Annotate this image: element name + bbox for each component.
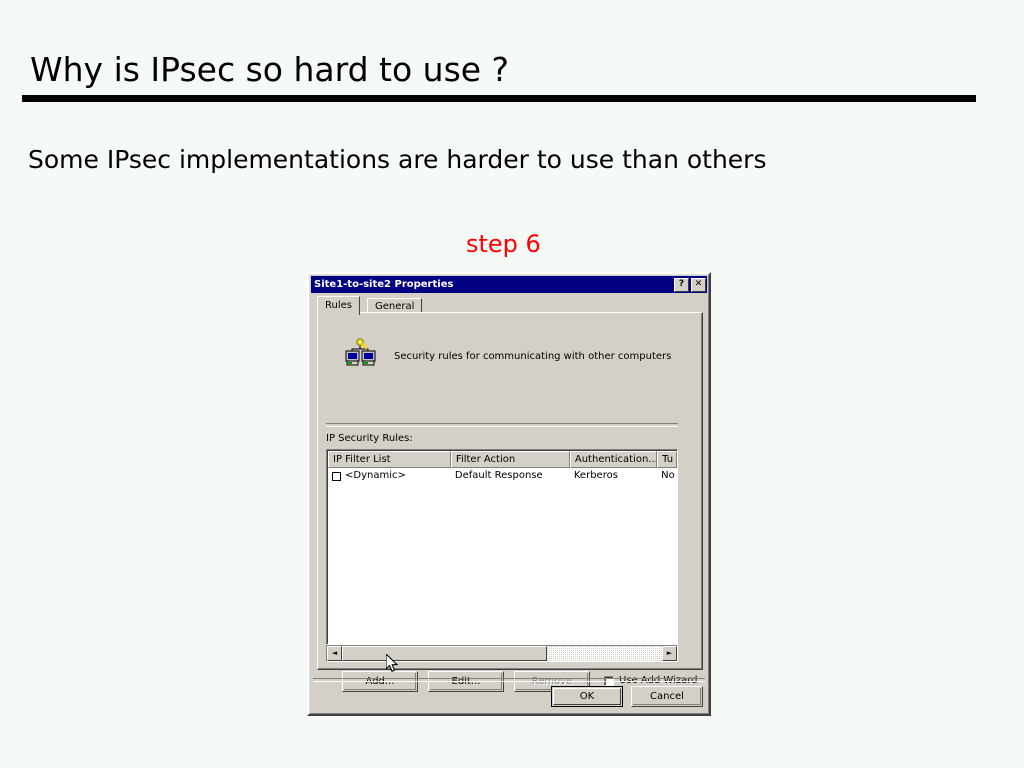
- header-separator: [326, 423, 678, 427]
- cell-filter-action: Default Response: [451, 468, 570, 484]
- dialog-title-text: Site1-to-site2 Properties: [314, 276, 672, 293]
- table-row[interactable]: <Dynamic> Default Response Kerberos No: [328, 468, 677, 484]
- dialog-footer-separator: [313, 678, 705, 682]
- rules-header-block: Security rules for communicating with ot…: [336, 335, 688, 385]
- cell-tunnel-setting: No: [657, 468, 677, 484]
- ok-button[interactable]: OK: [551, 686, 623, 707]
- title-underline-rule: [22, 95, 976, 102]
- column-header-authentication[interactable]: Authentication...: [570, 451, 657, 468]
- cancel-button-label: Cancel: [650, 691, 684, 702]
- scroll-left-arrow-icon[interactable]: ◄: [327, 646, 342, 661]
- rules-description-text: Security rules for communicating with ot…: [394, 351, 671, 362]
- ip-security-rules-label: IP Security Rules:: [326, 433, 413, 444]
- page-title: Why is IPsec so hard to use ?: [30, 50, 509, 89]
- scrollbar-thumb[interactable]: [342, 646, 547, 661]
- dialog-titlebar[interactable]: Site1-to-site2 Properties ? ✕: [311, 276, 707, 293]
- listview-header-row: IP Filter List Filter Action Authenticat…: [328, 451, 677, 468]
- cancel-button[interactable]: Cancel: [631, 686, 703, 707]
- two-computers-key-icon: [344, 337, 376, 369]
- scrollbar-track[interactable]: [342, 646, 662, 661]
- properties-dialog: Site1-to-site2 Properties ? ✕ Rules Gene…: [307, 272, 711, 716]
- help-button[interactable]: ?: [674, 278, 689, 292]
- listview-horizontal-scrollbar[interactable]: ◄ ►: [326, 645, 678, 662]
- ok-button-label: OK: [580, 691, 594, 702]
- column-header-ip-filter-list[interactable]: IP Filter List: [328, 451, 451, 468]
- slide-subtitle: Some IPsec implementations are harder to…: [28, 145, 767, 174]
- column-header-tunnel-setting[interactable]: Tu: [657, 451, 677, 468]
- cell-authentication: Kerberos: [570, 468, 657, 484]
- close-icon[interactable]: ✕: [691, 278, 706, 292]
- ip-security-rules-listview[interactable]: IP Filter List Filter Action Authenticat…: [326, 449, 678, 645]
- scroll-right-arrow-icon[interactable]: ►: [662, 646, 677, 661]
- tab-rules[interactable]: Rules: [317, 296, 360, 315]
- rule-enabled-checkbox[interactable]: [332, 472, 341, 481]
- rules-tab-page: Security rules for communicating with ot…: [317, 312, 703, 670]
- step-label: step 6: [466, 230, 541, 258]
- cell-ip-filter-list: <Dynamic>: [345, 468, 406, 484]
- column-header-filter-action[interactable]: Filter Action: [451, 451, 570, 468]
- listview-inner: IP Filter List Filter Action Authenticat…: [327, 450, 677, 644]
